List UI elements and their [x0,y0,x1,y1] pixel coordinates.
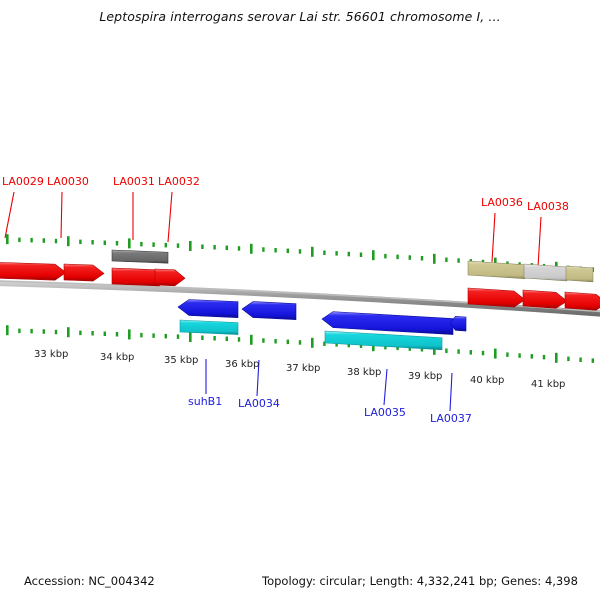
ruler-major-tick [494,349,497,359]
ruler-minor-tick [506,352,508,357]
ruler-label: 41 kbp [531,379,565,390]
ruler-minor-tick [409,255,411,259]
label-leader-line [5,192,14,238]
gene-label-la0029[interactable]: LA0029 [2,176,44,188]
label-leader-line [492,213,495,262]
ruler-minor-tick [91,331,93,336]
gene-la0032[interactable] [155,269,185,286]
ruler-minor-tick [299,340,301,345]
ruler-minor-tick [262,247,264,252]
ruler-minor-tick [445,349,447,354]
ruler-minor-tick [152,242,154,247]
ruler-minor-tick [55,330,57,335]
label-leader-line [538,217,541,267]
ruler-label: 34 kbp [100,352,134,363]
ruler-major-tick [189,241,192,251]
ruler-minor-tick [201,336,203,341]
ruler-major-tick [250,244,253,254]
gene-label-la0034[interactable]: LA0034 [238,398,280,410]
ruler-minor-tick [421,256,423,261]
ruler-minor-tick [579,358,581,363]
feature-layer[interactable] [0,250,600,350]
ruler-minor-tick [79,331,81,336]
label-leader-line [450,373,452,411]
ruler-minor-tick [531,354,533,359]
ruler-minor-tick [238,246,240,251]
ruler-minor-tick [287,249,289,254]
gene-la0029[interactable] [0,262,66,280]
ruler-label: 39 kbp [408,371,442,382]
ruler-minor-tick [18,238,20,243]
ruler-minor-tick [140,242,142,247]
ruler-minor-tick [18,329,20,334]
ruler-minor-tick [457,258,459,263]
ruler-minor-tick [91,240,93,245]
label-leader-line [61,192,62,238]
ruler-label: 36 kbp [225,359,259,370]
ruler-major-tick [372,250,375,260]
ruler-minor-tick [43,329,45,334]
cds-khaki-right[interactable] [566,266,593,282]
ruler-label: 37 kbp [286,363,320,374]
ruler-minor-tick [116,241,118,246]
tick-row-bottom [6,325,594,363]
accession-text: Accession: NC_004342 [24,574,155,588]
ruler-major-tick [67,327,70,337]
gene-label-la0030[interactable]: LA0030 [47,176,89,188]
ruler-minor-tick [360,253,362,258]
ruler-minor-tick [140,333,142,338]
ruler-major-tick [433,254,436,264]
label-leader-line [168,192,172,242]
ruler-minor-tick [238,337,240,342]
ruler-minor-tick [152,333,154,338]
ruler-minor-tick [592,358,594,363]
ruler-minor-tick [543,355,545,360]
ruler-minor-tick [177,334,179,339]
ruler-minor-tick [165,243,167,248]
genome-track-canvas[interactable] [0,0,600,600]
ruler-minor-tick [470,350,472,355]
ruler-minor-tick [165,334,167,339]
ruler-minor-tick [567,357,569,362]
ruler-minor-tick [518,353,520,358]
gene-la0035[interactable] [322,312,453,335]
ruler-major-tick [6,234,9,244]
gene-label-la0037[interactable]: LA0037 [430,413,472,425]
ruler-minor-tick [287,340,289,345]
gene-la0038a[interactable] [523,290,567,308]
ruler-major-tick [128,329,131,339]
sequence-viewer-panel: Leptospira interrogans serovar Lai str. … [0,0,600,600]
ruler-minor-tick [457,349,459,354]
ruler-minor-tick [323,251,325,256]
ruler-major-tick [311,247,314,257]
ruler-minor-tick [201,245,203,250]
label-leader-lines-top [5,192,541,267]
ruler-label: 38 kbp [347,367,381,378]
ruler-minor-tick [482,351,484,356]
ruler-minor-tick [30,329,32,334]
label-leader-line [384,369,387,405]
ruler-minor-tick [213,245,215,250]
ruler-minor-tick [335,251,337,256]
gene-label-la0036[interactable]: LA0036 [481,197,523,209]
ruler-minor-tick [104,241,106,246]
rna-la0035[interactable] [325,331,442,350]
ruler-minor-tick [262,338,264,343]
ruler-minor-tick [274,248,276,253]
ruler-major-tick [250,335,253,345]
gene-la0036[interactable] [468,288,525,307]
ruler-major-tick [128,238,131,248]
ruler-minor-tick [226,337,228,342]
ruler-major-tick [189,332,192,342]
ruler-label: 35 kbp [164,355,198,366]
ruler-minor-tick [348,252,350,256]
ruler-minor-tick [274,339,276,344]
gene-label-la0032[interactable]: LA0032 [158,176,200,188]
ruler-minor-tick [177,243,179,248]
ruler-minor-tick [116,332,118,337]
ruler-label: 40 kbp [470,375,504,386]
ruler-label: 33 kbp [34,349,68,360]
cds-gray-mid[interactable] [524,264,567,281]
ruler-minor-tick [104,332,106,337]
gene-label-suhb1[interactable]: suhB1 [188,396,222,408]
cds-khaki-left[interactable] [468,261,525,279]
gene-la0034[interactable] [242,302,296,320]
gene-suhb1[interactable] [178,299,238,317]
ruler-minor-tick [43,238,45,243]
ruler-minor-tick [384,254,386,259]
ruler-major-tick [555,353,558,363]
gene-la0030[interactable] [64,264,104,281]
gene-label-la0038[interactable]: LA0038 [527,201,569,213]
rna-suhb1[interactable] [180,320,238,335]
ruler-minor-tick [396,255,398,260]
ruler-major-tick [311,338,314,348]
ruler-major-tick [6,325,9,335]
ruler-minor-tick [445,258,447,263]
gene-label-la0035[interactable]: LA0035 [364,407,406,419]
ruler-major-tick [67,236,70,246]
ruler-minor-tick [213,336,215,341]
misc-feature-la0031[interactable] [112,250,168,263]
sequence-summary-text: Topology: circular; Length: 4,332,241 bp… [262,574,578,588]
ruler-minor-tick [55,239,57,244]
ruler-minor-tick [299,249,301,254]
ruler-minor-tick [226,246,228,251]
ruler-minor-tick [30,238,32,243]
gene-la0038b[interactable] [565,292,600,310]
gene-label-la0031[interactable]: LA0031 [113,176,155,188]
ruler-minor-tick [79,240,81,245]
